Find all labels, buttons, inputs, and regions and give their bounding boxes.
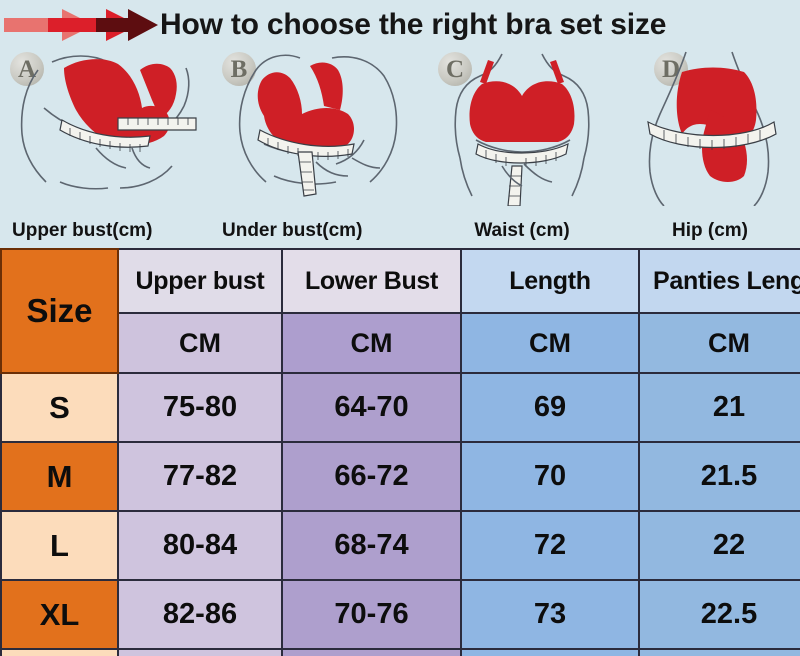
cell-upper-bust: 77-82: [118, 442, 282, 511]
size-chart-page: How to choose the right bra set size A: [0, 0, 800, 656]
table-header-row-units: CM CM CM CM: [1, 313, 800, 373]
measure-hip-illustration: [620, 48, 800, 206]
header-upper-bust: Upper bust: [118, 249, 282, 313]
cell-upper-bust: [118, 649, 282, 656]
instruction-banner: How to choose the right bra set size A: [0, 0, 800, 248]
unit-length: CM: [461, 313, 639, 373]
cell-size: XL: [1, 580, 118, 649]
cell-panties-length: 22.5: [639, 580, 800, 649]
cell-upper-bust: 80-84: [118, 511, 282, 580]
size-table: Size Upper bust Lower Bust Length Pantie…: [0, 248, 800, 656]
panel-caption-a: Upper bust(cm): [0, 220, 212, 242]
page-title: How to choose the right bra set size: [160, 10, 666, 40]
cell-upper-bust: 82-86: [118, 580, 282, 649]
table-row: XL 82-86 70-76 73 22.5: [1, 580, 800, 649]
cell-length: 72: [461, 511, 639, 580]
measure-waist-illustration: [424, 48, 620, 206]
panel-waist: C: [424, 46, 620, 248]
panel-caption-c: Waist (cm): [424, 220, 620, 242]
cell-lower-bust: 68-74: [282, 511, 461, 580]
panel-under-bust: B: [212, 46, 424, 248]
cell-size: [1, 649, 118, 656]
unit-upper-bust: CM: [118, 313, 282, 373]
cell-length: 69: [461, 373, 639, 442]
panel-hip: D Hip (cm): [620, 46, 800, 248]
cell-size: M: [1, 442, 118, 511]
title-row: How to choose the right bra set size: [0, 2, 800, 48]
header-lower-bust: Lower Bust: [282, 249, 461, 313]
header-length: Length: [461, 249, 639, 313]
cell-lower-bust: [282, 649, 461, 656]
unit-panties-length: CM: [639, 313, 800, 373]
table-row: S 75-80 64-70 69 21: [1, 373, 800, 442]
panel-caption-d: Hip (cm): [620, 220, 800, 242]
table-row: M 77-82 66-72 70 21.5: [1, 442, 800, 511]
cell-panties-length: 21.5: [639, 442, 800, 511]
cell-lower-bust: 66-72: [282, 442, 461, 511]
triple-arrow-right-icon: [0, 4, 160, 46]
cell-size: S: [1, 373, 118, 442]
table-header-row-labels: Size Upper bust Lower Bust Length Pantie…: [1, 249, 800, 313]
header-size: Size: [1, 249, 118, 373]
cell-length: 70: [461, 442, 639, 511]
measure-under-bust-illustration: [212, 48, 424, 206]
cell-lower-bust: 70-76: [282, 580, 461, 649]
table-row: L 80-84 68-74 72 22: [1, 511, 800, 580]
panel-upper-bust: A: [0, 46, 212, 248]
cell-length: [461, 649, 639, 656]
header-panties-length: Panties Leng: [639, 249, 800, 313]
table-row-partial: [1, 649, 800, 656]
unit-lower-bust: CM: [282, 313, 461, 373]
cell-length: 73: [461, 580, 639, 649]
measure-upper-bust-illustration: [0, 48, 212, 206]
cell-upper-bust: 75-80: [118, 373, 282, 442]
cell-panties-length: 22: [639, 511, 800, 580]
cell-size: L: [1, 511, 118, 580]
cell-panties-length: [639, 649, 800, 656]
size-table-wrapper: Size Upper bust Lower Bust Length Pantie…: [0, 248, 800, 656]
panel-caption-b: Under bust(cm): [212, 220, 424, 242]
cell-lower-bust: 64-70: [282, 373, 461, 442]
measurement-panels: A: [0, 46, 800, 248]
cell-panties-length: 21: [639, 373, 800, 442]
